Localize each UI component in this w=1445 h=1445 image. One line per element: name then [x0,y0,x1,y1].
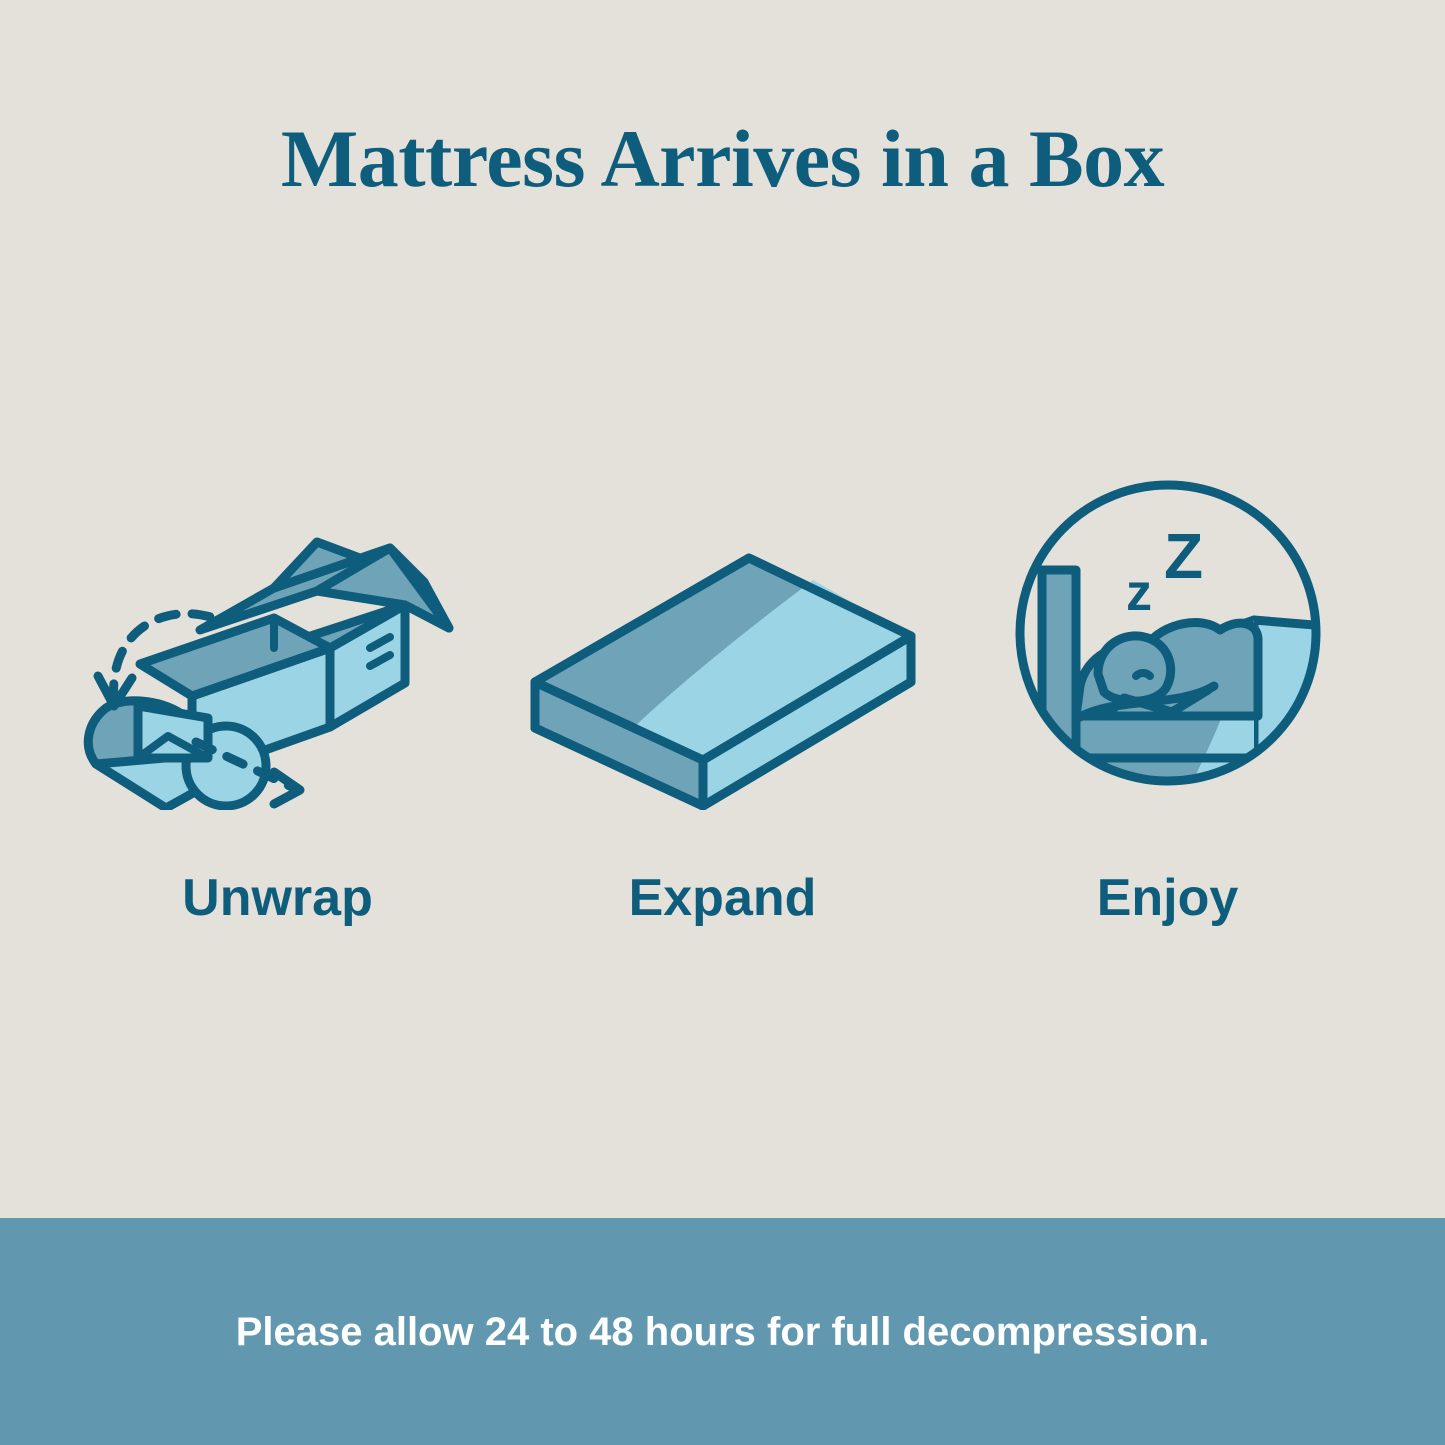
expanded-mattress-icon [513,470,933,810]
sleep-letter-large: Z [1164,520,1203,592]
decompression-note: Please allow 24 to 48 hours for full dec… [236,1312,1210,1352]
footer-banner: Please allow 24 to 48 hours for full dec… [0,1218,1445,1445]
step-label-unwrap: Unwrap [182,872,373,924]
steps-row: Unwrap [0,470,1445,950]
person-sleeping-in-bed-icon: z Z [958,470,1378,810]
infographic-canvas: Mattress Arrives in a Box [0,0,1445,1445]
step-label-enjoy: Enjoy [1097,872,1239,924]
page-title: Mattress Arrives in a Box [0,118,1445,200]
step-label-expand: Expand [629,872,817,924]
box-with-rolled-mattress-icon [68,470,488,810]
step-expand: Expand [500,470,945,924]
step-unwrap: Unwrap [55,470,500,924]
sleep-letter-small: z [1126,564,1152,622]
step-enjoy: z Z Enjoy [945,470,1390,924]
